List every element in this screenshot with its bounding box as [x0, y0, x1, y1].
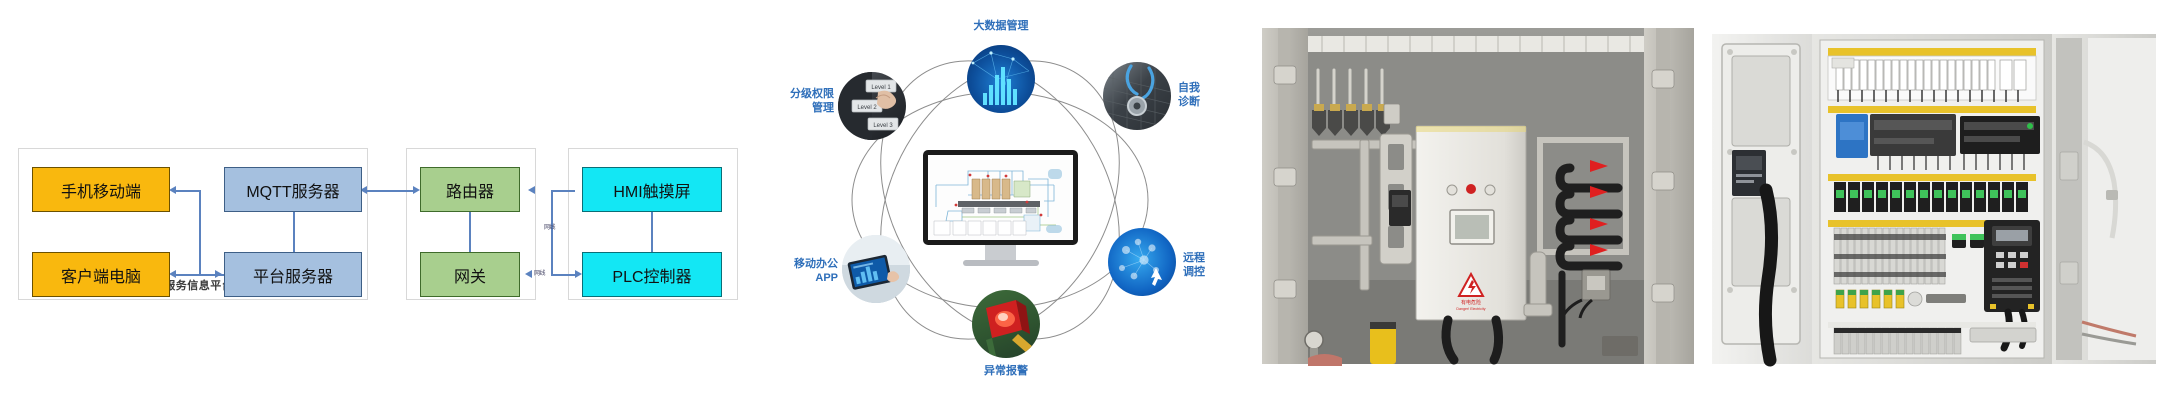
node-platform-server-label: 平台服务器 [253, 263, 333, 287]
node-remote-label: 远程 调控 [1183, 252, 1253, 280]
node-selfdiag-image[interactable] [1103, 62, 1171, 130]
node-plc-controller[interactable]: PLC控制器 [582, 252, 722, 297]
svg-text:Level 3: Level 3 [873, 123, 893, 129]
node-hmi-touchscreen-label: HMI触摸屏 [613, 178, 690, 202]
node-alarm-image[interactable] [972, 290, 1040, 358]
capability-wheel-graphic: 大数据管理 自我 诊断 [760, 0, 1260, 400]
node-hmi-touchscreen[interactable]: HMI触摸屏 [582, 167, 722, 212]
node-alarm-label: 异常报警 [951, 365, 1061, 379]
node-mqtt-server[interactable]: MQTT服务器 [224, 167, 362, 212]
node-mobile-terminal[interactable]: 手机移动端 [32, 167, 170, 212]
photo-control-cabinet-interior [1708, 22, 2160, 378]
warning-sign-subtext: Danger! Electricity [1456, 307, 1485, 311]
central-monitor [923, 150, 1078, 245]
node-permission-image[interactable]: Level 1 Level 2 Level 3 [838, 72, 906, 140]
node-client-pc-label: 客户端电脑 [61, 263, 141, 287]
link-label-upper: 网线 [544, 222, 555, 231]
photo-equipment-cabinet-render: 有电危险 Danger! Electricity [1252, 22, 1704, 378]
arrowhead-router-right [528, 186, 535, 194]
node-selfdiag-label: 自我 诊断 [1178, 82, 1248, 110]
node-client-pc[interactable]: 客户端电脑 [32, 252, 170, 297]
node-mobileapp-image[interactable] [842, 235, 910, 303]
photo-equipment-cabinet: 有电危险 Danger! Electricity [1252, 22, 1704, 378]
node-permission-label: 分级权限 管理 [762, 88, 834, 116]
warning-sign-text: 有电危险 [1461, 299, 1481, 306]
arrowhead-to-mobile-left [169, 186, 176, 194]
arrowhead-gateway-right [525, 270, 532, 278]
svg-text:Level 2: Level 2 [857, 105, 877, 111]
node-router-label: 路由器 [446, 178, 494, 202]
monitor-base [963, 260, 1039, 266]
link-plc-router-riser [551, 190, 553, 275]
node-mobileapp-label: 移动办公 APP [766, 258, 838, 286]
link-riser-to-mobile [176, 190, 200, 192]
node-router[interactable]: 路由器 [420, 167, 520, 212]
link-mqtt-router [367, 190, 415, 192]
screenshot-root: 云服务信息平台 标配网络设备 标配控制设备 网线 网线 [0, 0, 2160, 400]
link-plc-router-top [551, 190, 575, 192]
node-mqtt-server-label: MQTT服务器 [246, 178, 339, 202]
node-gateway-label: 网关 [454, 263, 486, 287]
link-label-lower: 网线 [534, 268, 545, 277]
svg-text:Level 1: Level 1 [871, 85, 891, 91]
node-plc-controller-label: PLC控制器 [612, 263, 691, 287]
photo-control-cabinet-render [1708, 22, 2160, 378]
network-topology-diagram: 云服务信息平台 标配网络设备 标配控制设备 网线 网线 [0, 0, 760, 400]
link-plc-router-bottom [551, 274, 577, 276]
monitor-screen [928, 155, 1073, 240]
node-bigdata-image[interactable] [967, 45, 1035, 113]
node-gateway[interactable]: 网关 [420, 252, 520, 297]
node-platform-server[interactable]: 平台服务器 [224, 252, 362, 297]
arrowhead-to-plc-right [575, 270, 582, 278]
arrowhead-to-platform-right [215, 270, 222, 278]
node-bigdata-label: 大数据管理 [946, 20, 1056, 34]
arrowhead-to-client-left [169, 270, 176, 278]
node-mobile-terminal-label: 手机移动端 [61, 178, 141, 202]
link-riser-left [199, 190, 201, 275]
arrowhead-to-router [413, 186, 420, 194]
node-remote-image[interactable] [1108, 228, 1176, 296]
scada-mimic-diagram [928, 155, 1073, 240]
